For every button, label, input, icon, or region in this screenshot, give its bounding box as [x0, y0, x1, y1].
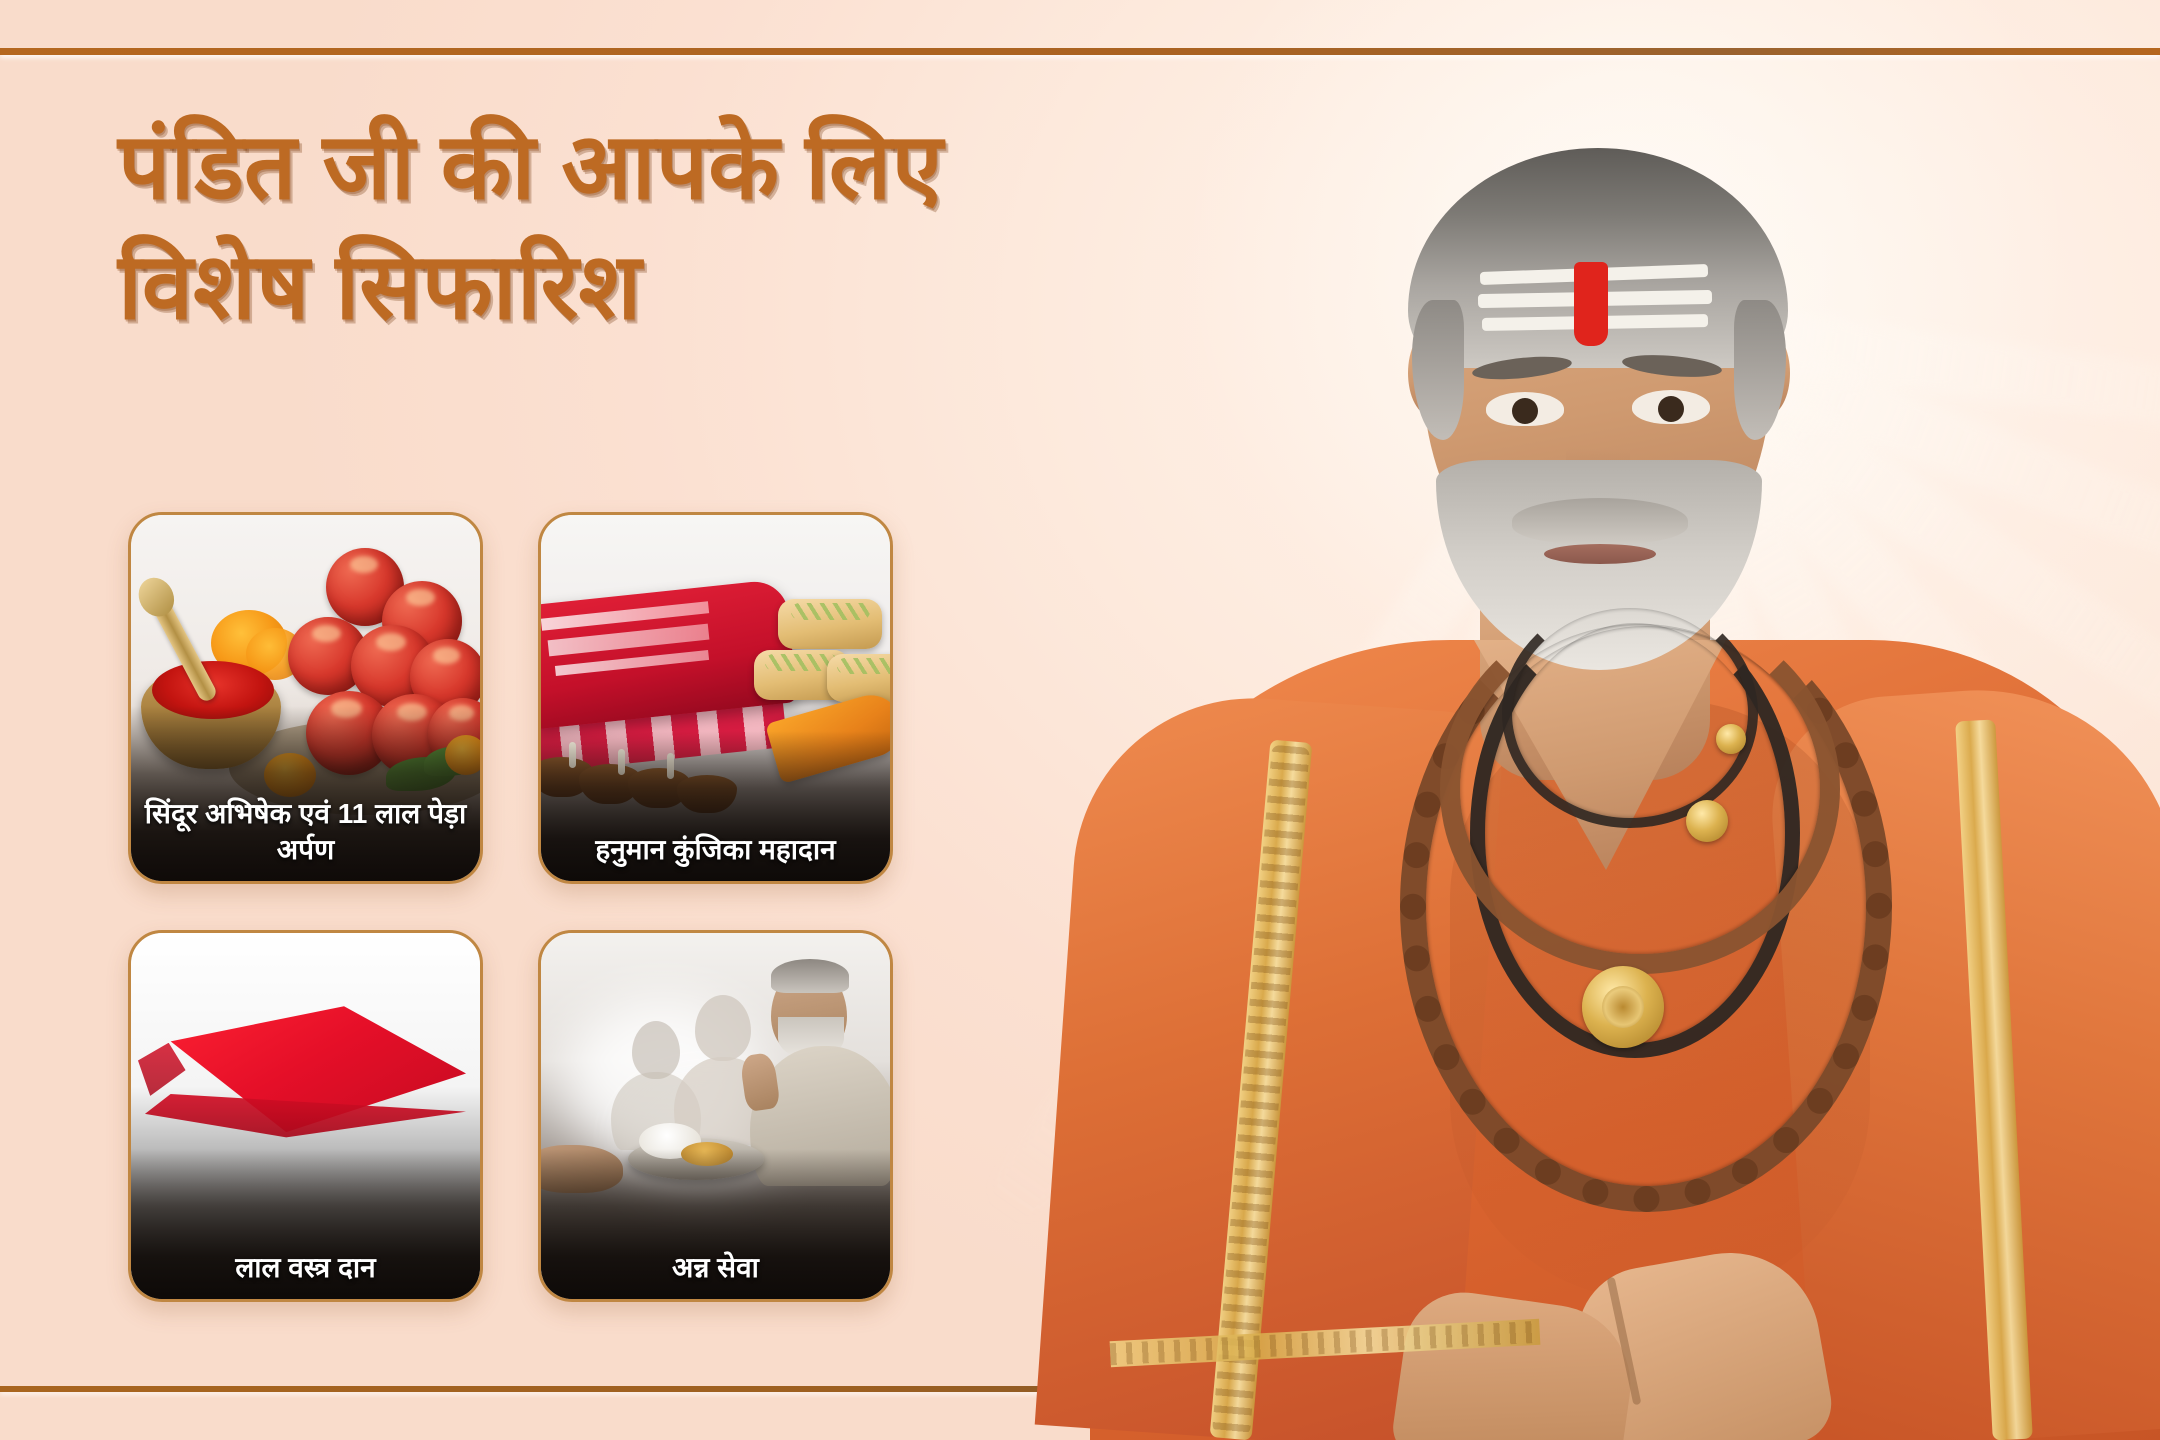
gold-pendant-small — [1686, 800, 1728, 842]
offering-caption: सिंदूर अभिषेक एवं 11 लाल पेड़ा अर्पण — [131, 706, 480, 881]
pupil-left — [1512, 398, 1538, 424]
gold-pendant-large-engraving — [1602, 986, 1644, 1028]
page-title-line-1: पंडित जी की आपके लिए — [118, 116, 943, 218]
pupil-right — [1658, 396, 1684, 422]
offering-label-sindoor-abhishek: सिंदूर अभिषेक एवं 11 लाल पेड़ा अर्पण — [141, 796, 471, 867]
offering-card-hanuman-kunjika-mahadan[interactable]: हनुमान कुंजिका महादान — [538, 512, 893, 884]
hair-sideburn-left — [1412, 300, 1464, 440]
offering-caption: हनुमान कुंजिका महादान — [541, 731, 890, 881]
promo-banner: पंडित जी की आपके लिए विशेष सिफारिश — [0, 0, 2160, 1440]
gold-bead-accent — [1716, 724, 1746, 754]
moustache — [1512, 498, 1688, 544]
page-title: पंडित जी की आपके लिए विशेष सिफारिश — [118, 108, 1178, 347]
black-bead-choker — [1502, 598, 1758, 828]
offerings-grid: सिंदूर अभिषेक एवं 11 लाल पेड़ा अर्पण — [128, 512, 948, 1302]
offering-card-sindoor-abhishek[interactable]: सिंदूर अभिषेक एवं 11 लाल पेड़ा अर्पण — [128, 512, 483, 884]
offering-label-hanuman-kunjika-mahadan: हनुमान कुंजिका महादान — [595, 832, 835, 867]
offering-caption: लाल वस्त्र दान — [131, 1149, 480, 1299]
hair-sideburn-right — [1734, 300, 1786, 440]
offering-caption: अन्न सेवा — [541, 1149, 890, 1299]
mouth — [1544, 544, 1656, 564]
bottom-fade — [0, 1320, 2160, 1440]
pandit-portrait — [1150, 0, 2160, 1440]
offering-label-anna-seva: अन्न सेवा — [672, 1250, 759, 1285]
offering-label-lal-vastra-daan: लाल वस्त्र दान — [235, 1250, 375, 1285]
offering-card-anna-seva[interactable]: अन्न सेवा — [538, 930, 893, 1302]
offering-card-lal-vastra-daan[interactable]: लाल वस्त्र दान — [128, 930, 483, 1302]
tilak-red-mark — [1574, 262, 1608, 346]
page-title-line-2: विशेष सिफारिश — [118, 228, 1178, 348]
